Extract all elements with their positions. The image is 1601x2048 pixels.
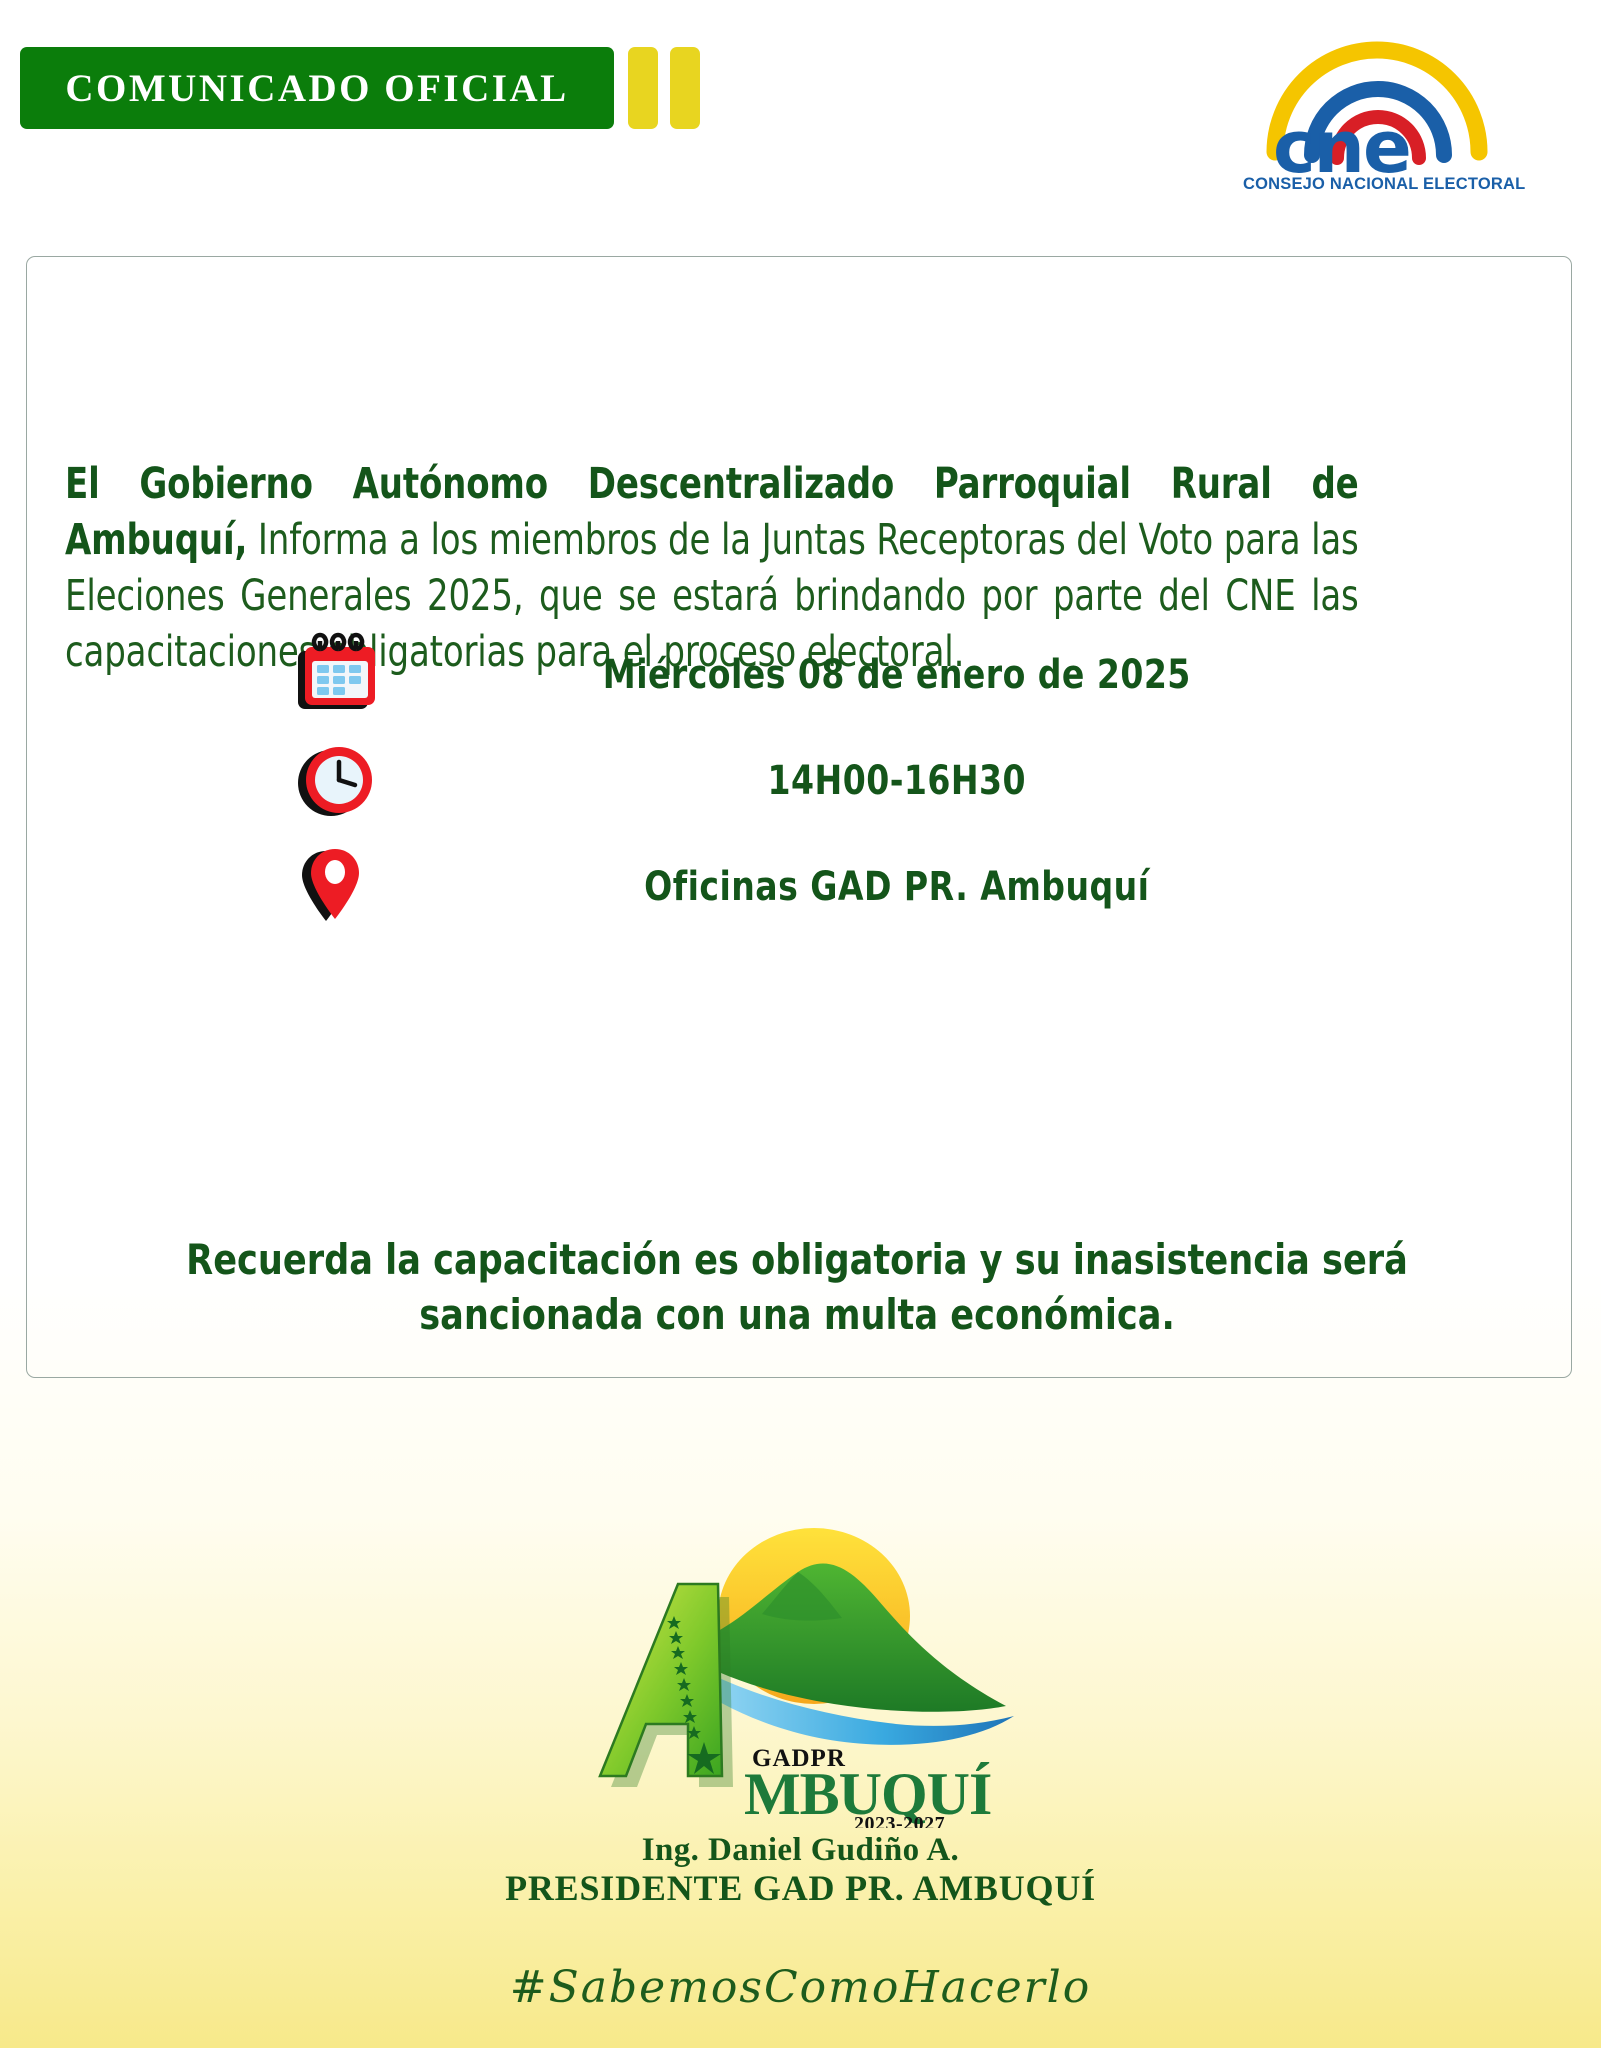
detail-row: Miércoles 08 de enero de 2025 (277, 622, 1507, 728)
announcement-card: El Gobierno Autónomo Descentralizado Par… (26, 256, 1572, 1378)
page-header: COMUNICADO OFICIAL cne CONSEJO NACIONAL … (0, 0, 1601, 250)
signature-block: Ing. Daniel Gudiño A. PRESIDENTE GAD PR.… (0, 1833, 1601, 1908)
reminder-line-2: sancionada con una multa económica. (137, 1287, 1458, 1342)
detail-row: 14H00-16H30 (277, 728, 1507, 834)
location-pin-icon (277, 843, 397, 931)
cne-subtitle: CONSEJO NACIONAL ELECTORAL (1243, 175, 1525, 192)
detail-value-date: Miércoles 08 de enero de 2025 (441, 652, 1462, 698)
banner-accent-bar-1 (628, 47, 658, 129)
signature-name: Ing. Daniel Gudiño A. (0, 1833, 1601, 1869)
gad-logo-period: 2023-2027 (854, 1813, 945, 1828)
official-communication-banner: COMUNICADO OFICIAL (20, 47, 614, 129)
banner-accent-bar-2 (670, 47, 700, 129)
reminder-text: Recuerda la capacitación es obligatoria … (137, 1232, 1458, 1343)
banner-label: COMUNICADO OFICIAL (65, 66, 568, 111)
clock-icon (277, 737, 397, 825)
gadpr-ambuqui-logo: GADPR MBUQUÍ 2023-2027 (566, 1518, 1036, 1828)
detail-value-time: 14H00-16H30 (441, 758, 1462, 804)
reminder-line-1: Recuerda la capacitación es obligatoria … (137, 1232, 1458, 1287)
hashtag-slogan: #SabemosComoHacerlo (0, 1962, 1601, 2013)
detail-row: Oficinas GAD PR. Ambuquí (277, 834, 1507, 940)
cne-logo: cne CONSEJO NACIONAL ELECTORAL (1235, 12, 1565, 192)
calendar-icon (277, 631, 397, 719)
detail-value-place: Oficinas GAD PR. Ambuquí (441, 864, 1462, 910)
event-details-list: Miércoles 08 de enero de 2025 14H00-16H3… (277, 622, 1507, 940)
signature-title: PRESIDENTE GAD PR. AMBUQUÍ (0, 1869, 1601, 1908)
